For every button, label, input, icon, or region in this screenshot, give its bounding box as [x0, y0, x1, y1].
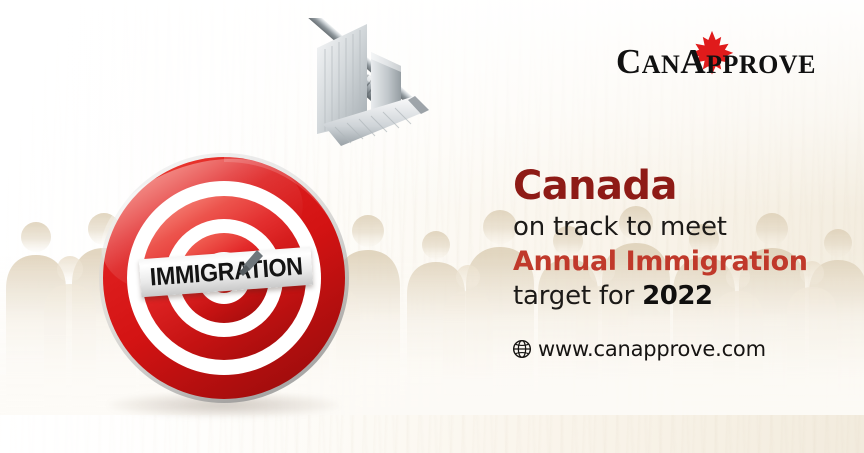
logo-letters-pprove: PPROVE	[706, 50, 816, 79]
immigration-label-text: IMMIGRATION	[149, 252, 304, 292]
logo-letters-an: AN	[642, 50, 681, 79]
headline-annual-immigration: Annual Immigration	[513, 248, 843, 276]
headline-on-track: on track to meet	[513, 214, 843, 241]
website-url[interactable]: www.canapprove.com	[512, 337, 766, 361]
headline-target-prefix: target for	[513, 281, 642, 311]
canapprove-logo[interactable]: CANAPPROVE	[616, 38, 816, 84]
immigration-banner: IMMIGRATION	[0, 0, 864, 453]
website-url-text: www.canapprove.com	[538, 337, 766, 361]
logo-letter-c: C	[616, 42, 642, 81]
logo-wordmark: CANAPPROVE	[616, 44, 816, 79]
headline-block: Canada on track to meet Annual Immigrati…	[513, 166, 843, 310]
headline-target-year: target for 2022	[513, 283, 843, 310]
globe-icon	[512, 339, 532, 359]
dartboard-target: IMMIGRATION	[98, 152, 350, 404]
headline-year: 2022	[642, 281, 712, 311]
logo-letter-a: A	[680, 42, 706, 81]
headline-canada: Canada	[513, 166, 843, 206]
